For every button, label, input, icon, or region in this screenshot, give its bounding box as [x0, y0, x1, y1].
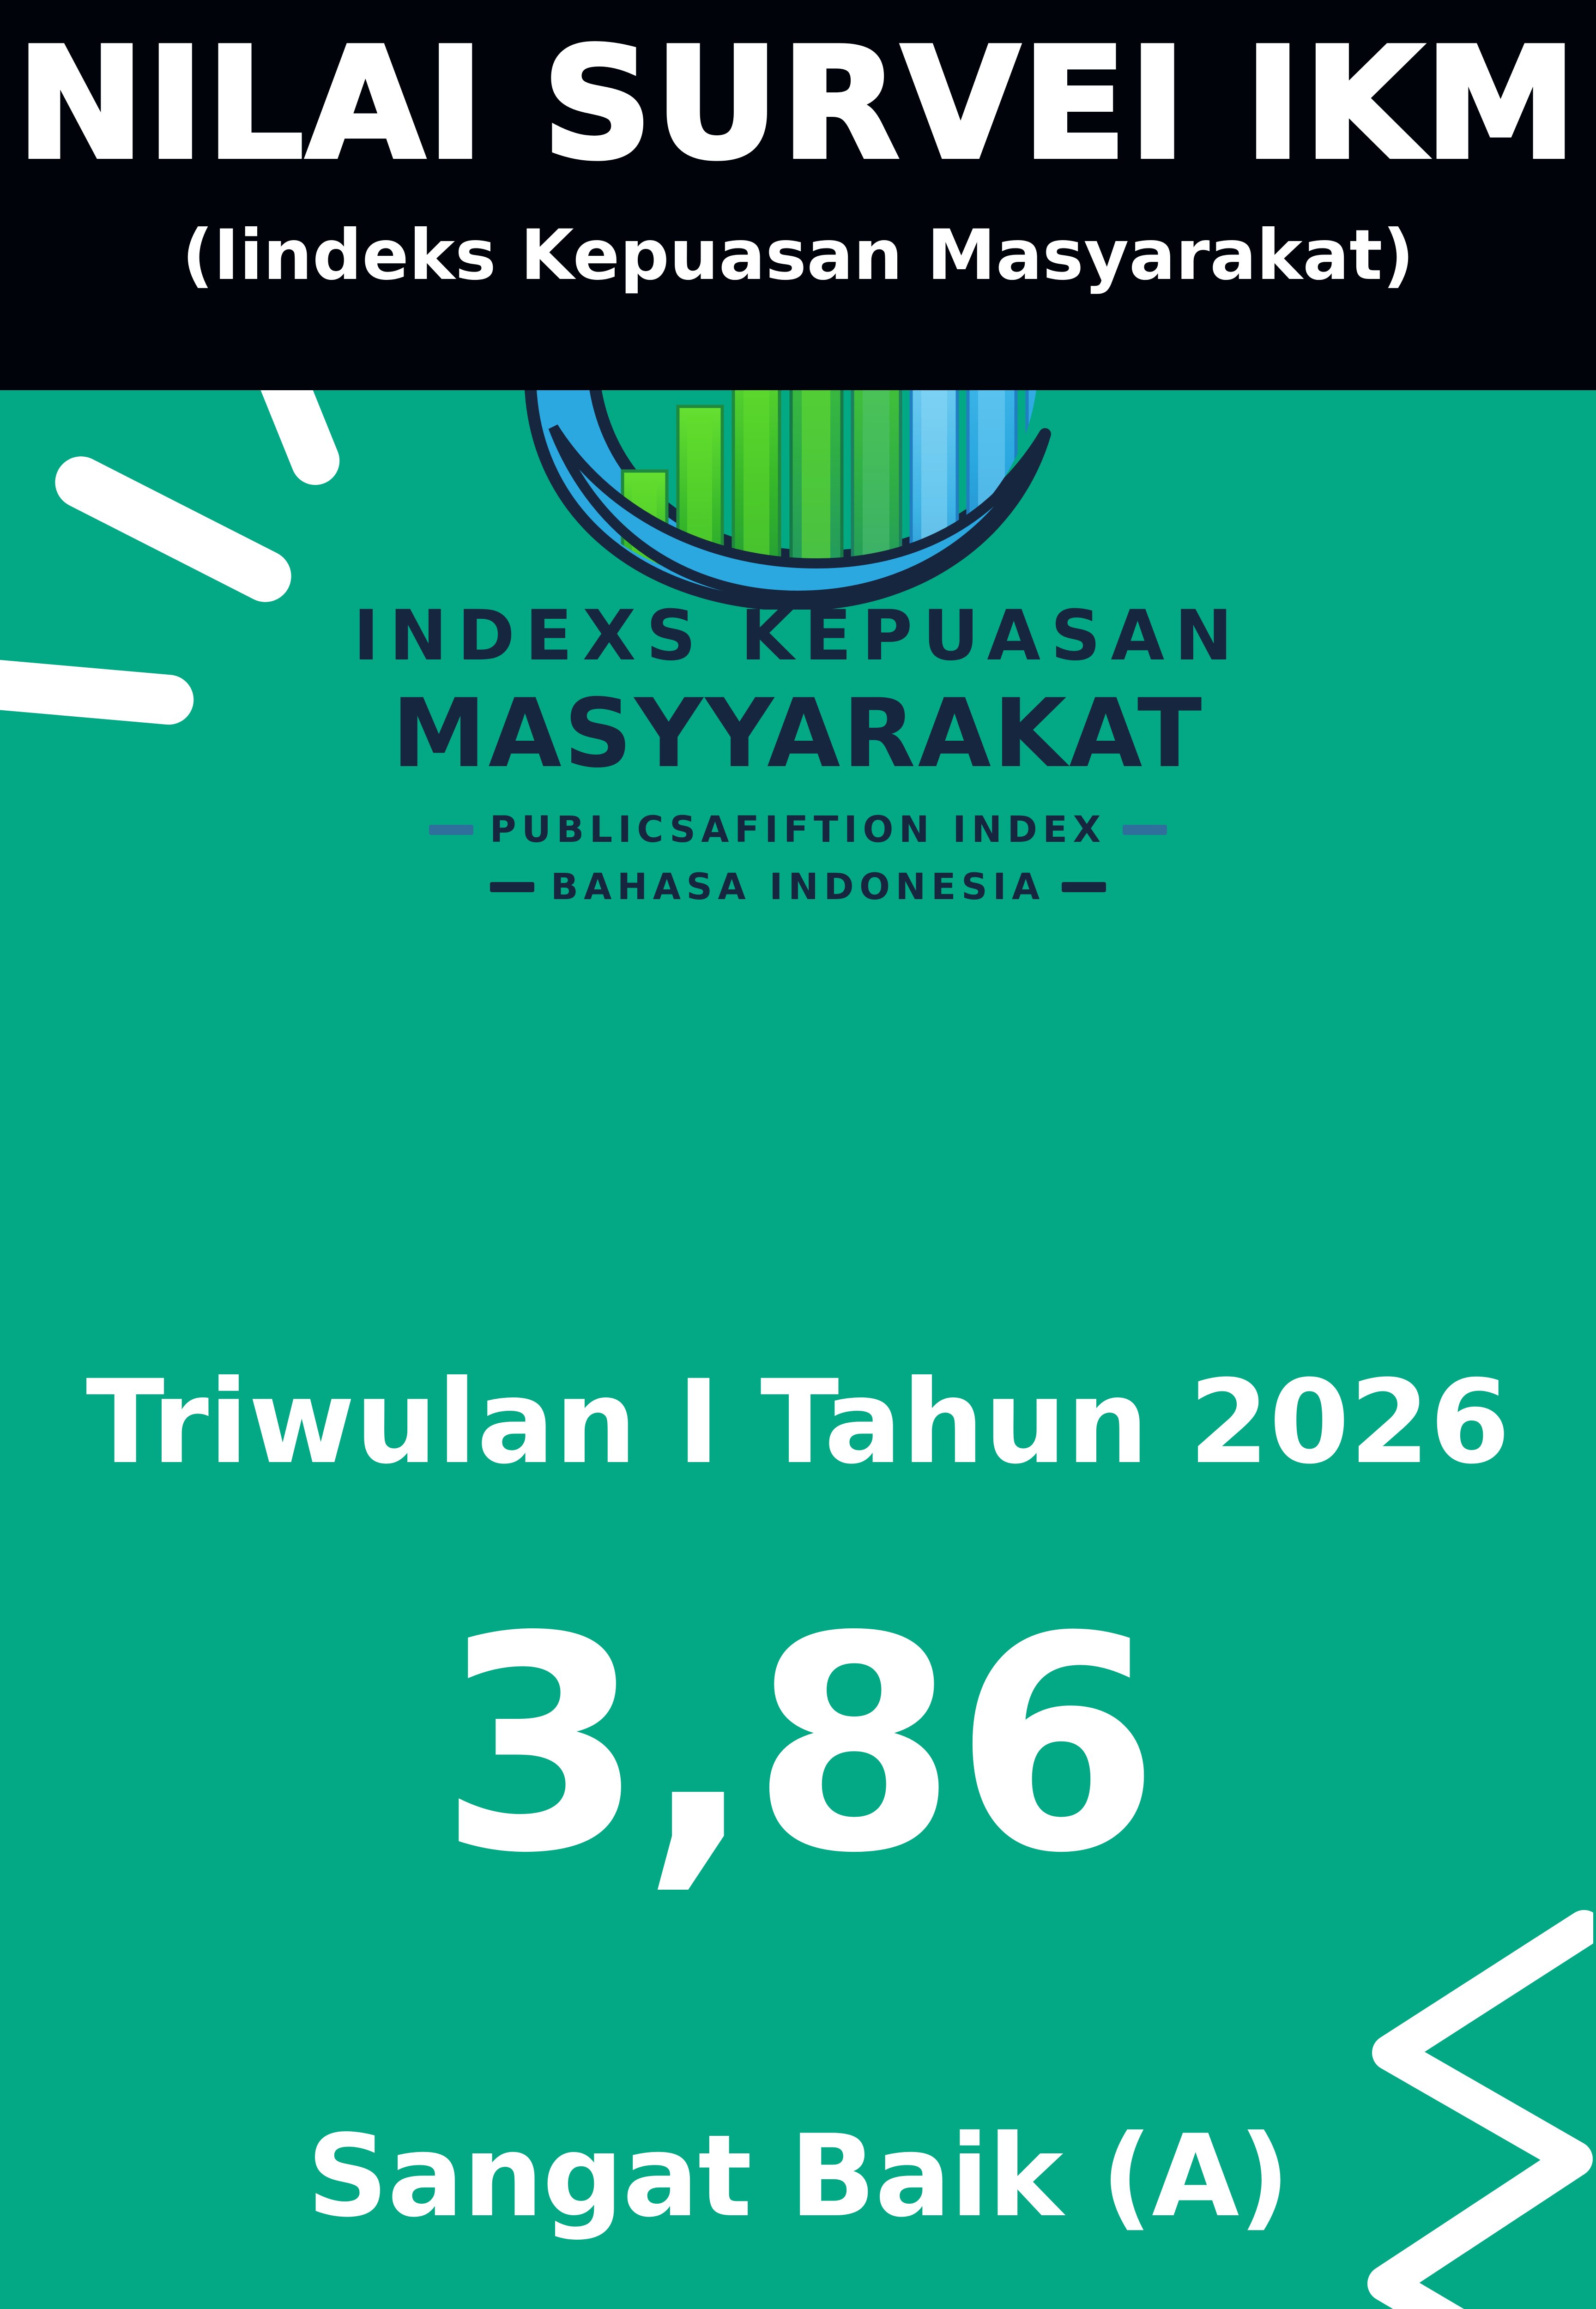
- header-band: NILAI SURVEI IKM (Iindeks Kepuasan Masya…: [0, 0, 1596, 390]
- zigzag-squiggle-icon: [1307, 1900, 1593, 2309]
- page-title: NILAI SURVEI IKM: [17, 28, 1579, 180]
- tag-dash-icon: [429, 825, 473, 835]
- logo-tagline-1: PUBLICSAFIFTION INDEX: [490, 809, 1106, 851]
- tag-dash-icon: [1123, 825, 1167, 835]
- page-subtitle: (Iindeks Kepuasan Masyarakat): [182, 221, 1414, 290]
- ikm-survey-poster: NILAI SURVEI IKM (Iindeks Kepuasan Masya…: [0, 0, 1596, 2309]
- logo-tagline-2: BAHASA INDONESIA: [551, 866, 1046, 908]
- survey-score: 3,86: [0, 1598, 1596, 1893]
- logo-tagline-row-1: PUBLICSAFIFTION INDEX: [429, 809, 1167, 851]
- survey-period: Triwulan I Tahun 2026: [0, 1365, 1596, 1480]
- logo-tagline-row-2: BAHASA INDONESIA: [490, 866, 1106, 908]
- logo-name-line-2: MASYYARAKAT: [392, 679, 1204, 789]
- survey-grade-badge: Sangat Baik (A): [0, 2120, 1596, 2233]
- tag-dash-icon: [1062, 882, 1106, 892]
- tag-dash-icon: [490, 882, 534, 892]
